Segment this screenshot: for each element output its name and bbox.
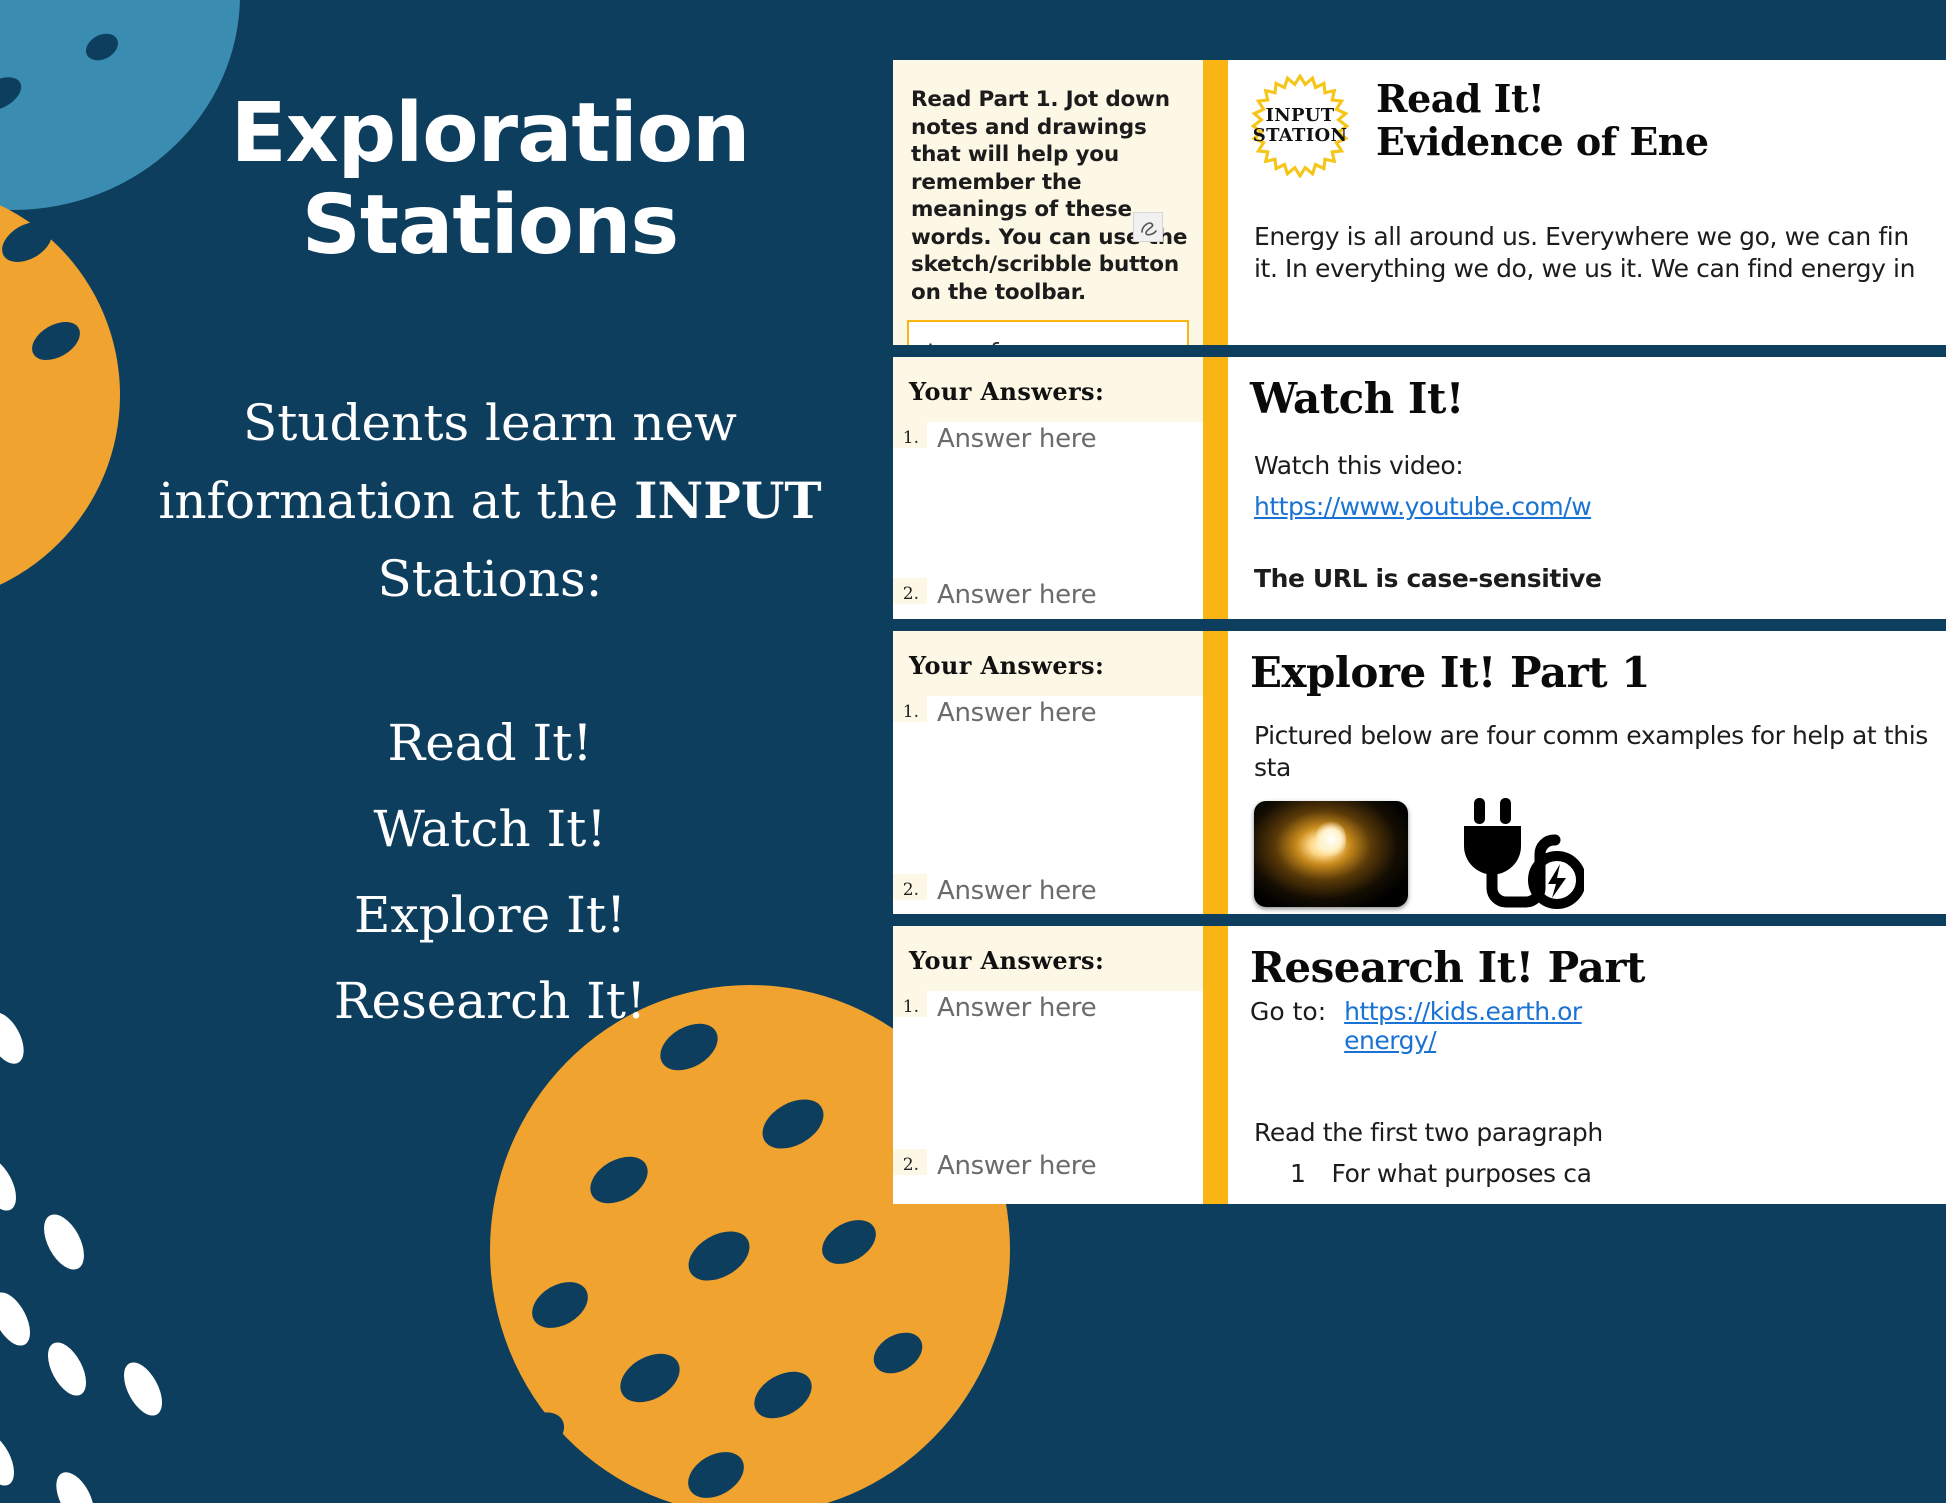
lede-after: Stations: [377,550,602,608]
answer-number: 2. [893,578,927,604]
answer-row[interactable]: 1. Answer here [893,696,1203,874]
explore-it-answers-column: Your Answers: 1. Answer here 2. Answer h… [893,631,1203,914]
card-divider-bar [1203,926,1212,1204]
answer-row[interactable]: 1. Answer here [893,991,1203,1149]
badge-line-1: INPUT [1266,106,1335,126]
read-it-instruction: Read Part 1. Jot down notes and drawings… [893,74,1203,306]
answer-text[interactable]: Answer here [927,696,1203,728]
answer-text[interactable]: Answer here [927,874,1203,906]
question-text: For what purposes ca [1332,1159,1592,1188]
slide-canvas: Exploration Stations Students learn new … [0,0,1946,1503]
explore-it-paragraph: Pictured below are four comm examples fo… [1228,720,1946,784]
explore-it-content: Explore It! Part 1 Pictured below are fo… [1212,631,1946,914]
station-list: Read It! Watch It! Explore It! Research … [110,700,870,1044]
card-divider-bar [1203,60,1212,345]
answer-row[interactable]: 1. Answer here [893,422,1203,578]
white-dots-decoration [0,1000,260,1503]
station-item-explore: Explore It! [110,872,870,958]
station-item-research: Research It! [110,958,870,1044]
answers-list: 1. Answer here 2. Answer here [893,696,1203,914]
read-it-paragraph: Energy is all around us. Everywhere we g… [1228,221,1946,285]
explore-it-image-row [1228,796,1946,912]
read-it-heading-line-1: Read It! [1376,78,1946,121]
power-plug-icon [1452,796,1584,912]
research-it-link[interactable]: https://kids.earth.or energy/ [1344,997,1582,1055]
research-it-link-line-1[interactable]: https://kids.earth.or [1344,997,1582,1026]
research-it-answers-column: Your Answers: 1. Answer here 2. Answer h… [893,926,1203,1204]
title-line-2: Stations [110,180,870,272]
station-item-watch: Watch It! [110,786,870,872]
station-item-read: Read It! [110,700,870,786]
read-it-content: INPUT STATION Read It! Evidence of Ene E… [1212,60,1946,345]
watch-it-answers-column: Your Answers: 1. Answer here 2. Answer h… [893,357,1203,619]
input-station-badge: INPUT STATION [1248,74,1352,178]
glowing-lightbulb-photo [1254,801,1408,907]
card-divider-bar [1203,357,1212,619]
card-divider-bar [1203,631,1212,914]
research-it-question-list: 1 For what purposes ca [1228,1159,1946,1188]
vocab-word: transform [927,338,1187,345]
goto-label: Go to: [1250,997,1326,1055]
answer-row[interactable]: 2. Answer here [893,578,1203,619]
watch-it-link[interactable]: https://www.youtube.com/w [1228,492,1946,521]
research-it-heading: Research It! Part [1228,944,1946,991]
title-line-1: Exploration [110,88,870,180]
question-number: 1 [1290,1159,1306,1188]
explore-it-heading: Explore It! Part 1 [1228,649,1946,696]
answer-row[interactable]: 2. Answer here [893,1149,1203,1204]
worksheet-screenshot-panel: Read Part 1. Jot down notes and drawings… [893,60,1946,1443]
research-it-link-line-2[interactable]: energy/ [1344,1026,1436,1055]
card-watch-it[interactable]: Your Answers: 1. Answer here 2. Answer h… [893,357,1946,619]
answer-number: 1. [893,422,927,448]
answers-label: Your Answers: [893,371,1203,406]
answer-text[interactable]: Answer here [927,422,1203,454]
card-read-it[interactable]: Read Part 1. Jot down notes and drawings… [893,60,1946,345]
watch-it-note: The URL is case-sensitive [1228,563,1946,595]
lede-bold-input: INPUT [634,471,822,530]
answer-text[interactable]: Answer here [927,578,1203,610]
page-title: Exploration Stations [110,88,870,272]
research-it-content: Research It! Part Go to: https://kids.ea… [1212,926,1946,1204]
scribble-glyph [1138,217,1160,239]
answer-number: 1. [893,991,927,1017]
answer-row[interactable]: 2. Answer here [893,874,1203,914]
scribble-icon[interactable] [1133,212,1163,242]
watch-it-heading: Watch It! [1228,375,1946,422]
input-station-badge-label: INPUT STATION [1248,74,1352,178]
vocab-input-box[interactable]: transform Type/draw here [907,320,1189,345]
orange-blob-top-left-decoration [0,185,120,605]
answer-number: 2. [893,874,927,900]
answer-number: 2. [893,1149,927,1175]
watch-it-content: Watch It! Watch this video: https://www.… [1212,357,1946,619]
answers-list: 1. Answer here 2. Answer here [893,991,1203,1204]
badge-line-2: STATION [1253,126,1347,146]
answer-number: 1. [893,696,927,722]
answers-list: 1. Answer here 2. Answer here [893,422,1203,619]
list-item: 1 For what purposes ca [1290,1159,1946,1188]
watch-it-intro: Watch this video: [1228,450,1946,482]
research-it-goto-row: Go to: https://kids.earth.or energy/ [1228,997,1946,1055]
card-research-it[interactable]: Your Answers: 1. Answer here 2. Answer h… [893,926,1946,1204]
answers-label: Your Answers: [893,940,1203,975]
lede-paragraph: Students learn new information at the IN… [110,384,870,618]
answers-label: Your Answers: [893,645,1203,680]
answer-text[interactable]: Answer here [927,991,1203,1023]
left-text-column: Exploration Stations Students learn new … [110,60,870,1044]
read-it-notes-column: Read Part 1. Jot down notes and drawings… [893,60,1203,345]
research-it-instruction: Read the first two paragraph [1228,1117,1946,1149]
card-explore-it[interactable]: Your Answers: 1. Answer here 2. Answer h… [893,631,1946,914]
answer-text[interactable]: Answer here [927,1149,1203,1181]
read-it-heading-line-2: Evidence of Ene [1376,121,1946,164]
